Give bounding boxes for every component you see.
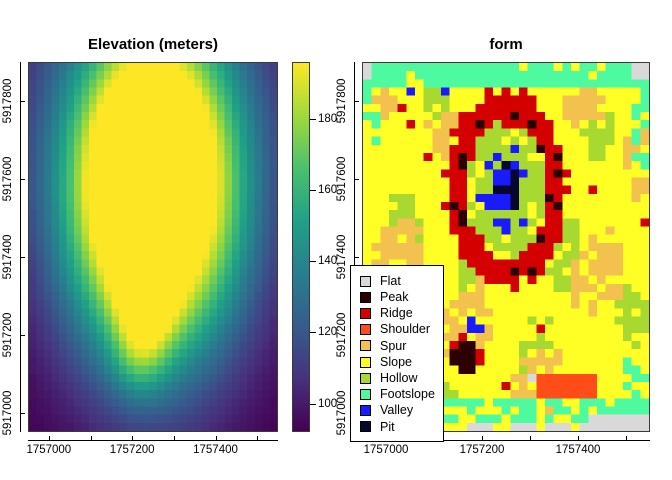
- y-axis-tick: [20, 101, 25, 102]
- x-axis-label: 1757400: [556, 444, 601, 456]
- colorbar-label: 140: [318, 255, 337, 267]
- y-axis-tick: [20, 257, 25, 258]
- legend-swatch-icon: [360, 405, 371, 416]
- legend-swatch-icon: [360, 357, 371, 368]
- colorbar-tick: [310, 261, 316, 262]
- legend-item-label: Footslope: [380, 388, 435, 401]
- x-axis-tick: [49, 436, 50, 441]
- y-axis-tick: [20, 179, 25, 180]
- x-axis-tick: [482, 436, 483, 441]
- y-axis-label: 5917200: [336, 312, 348, 357]
- x-axis-line: [28, 440, 278, 441]
- legend-item-pit[interactable]: Pit: [360, 419, 435, 435]
- colorbar-gradient: [293, 63, 309, 431]
- x-axis-tick: [578, 436, 579, 441]
- y-axis-label: 5917000: [336, 390, 348, 435]
- y-axis-tick: [354, 101, 359, 102]
- legend-item-label: Spur: [380, 340, 406, 353]
- x-axis-tick: [626, 436, 627, 441]
- legend-item-footslope[interactable]: Footslope: [360, 386, 435, 402]
- legend-swatch-icon: [360, 276, 371, 287]
- figure-canvas: Elevation (meters) 175700017572001757400…: [0, 0, 672, 480]
- y-axis-label: 5917600: [336, 156, 348, 201]
- legend-item-label: Hollow: [380, 372, 418, 385]
- form-title: form: [362, 36, 650, 53]
- legend-item-peak[interactable]: Peak: [360, 289, 435, 305]
- y-axis-tick: [354, 179, 359, 180]
- legend-item-label: Pit: [380, 421, 395, 434]
- legend-swatch-icon: [360, 389, 371, 400]
- y-axis-label: 5917200: [2, 312, 14, 357]
- elevation-raster: [29, 63, 277, 431]
- elevation-title: Elevation (meters): [28, 36, 278, 53]
- legend-swatch-icon: [360, 373, 371, 384]
- colorbar-tick: [310, 332, 316, 333]
- x-axis-label: 1757400: [193, 444, 238, 456]
- legend-item-shoulder[interactable]: Shoulder: [360, 322, 435, 338]
- y-axis-line: [20, 62, 21, 432]
- colorbar-label: 180: [318, 113, 337, 125]
- x-axis-tick: [174, 436, 175, 441]
- legend-swatch-icon: [360, 421, 371, 432]
- legend-item-label: Slope: [380, 356, 412, 369]
- legend-item-spur[interactable]: Spur: [360, 338, 435, 354]
- colorbar-label: 100: [318, 398, 337, 410]
- colorbar-label: 120: [318, 326, 337, 338]
- y-axis-label: 5917400: [336, 234, 348, 279]
- y-axis-label: 5917800: [336, 79, 348, 124]
- x-axis-tick: [257, 436, 258, 441]
- y-axis-label: 5917600: [2, 156, 14, 201]
- y-axis-tick: [20, 413, 25, 414]
- legend-item-ridge[interactable]: Ridge: [360, 305, 435, 321]
- legend-item-label: Ridge: [380, 307, 413, 320]
- y-axis-label: 5917000: [2, 390, 14, 435]
- elevation-plot-area: [28, 62, 278, 432]
- form-legend: FlatPeakRidgeShoulderSpurSlopeHollowFoot…: [350, 265, 444, 442]
- legend-swatch-icon: [360, 340, 371, 351]
- legend-item-flat[interactable]: Flat: [360, 273, 435, 289]
- elevation-colorbar: [292, 62, 310, 432]
- legend-swatch-icon: [360, 292, 371, 303]
- legend-item-label: Shoulder: [380, 323, 430, 336]
- colorbar-tick: [310, 404, 316, 405]
- x-axis-label: 1757000: [26, 444, 71, 456]
- legend-item-label: Valley: [380, 404, 413, 417]
- legend-item-hollow[interactable]: Hollow: [360, 370, 435, 386]
- x-axis-label: 1757200: [460, 444, 505, 456]
- legend-swatch-icon: [360, 308, 371, 319]
- legend-swatch-icon: [360, 324, 371, 335]
- legend-item-label: Flat: [380, 275, 401, 288]
- x-axis-tick: [91, 436, 92, 441]
- x-axis-label: 1757000: [364, 444, 409, 456]
- legend-item-label: Peak: [380, 291, 409, 304]
- y-axis-tick: [354, 257, 359, 258]
- legend-item-valley[interactable]: Valley: [360, 403, 435, 419]
- y-axis-label: 5917400: [2, 234, 14, 279]
- y-axis-label: 5917800: [2, 79, 14, 124]
- x-axis-tick: [216, 436, 217, 441]
- colorbar-tick: [310, 190, 316, 191]
- colorbar-label: 160: [318, 184, 337, 196]
- legend-item-slope[interactable]: Slope: [360, 354, 435, 370]
- x-axis-tick: [132, 436, 133, 441]
- y-axis-tick: [20, 335, 25, 336]
- x-axis-label: 1757200: [110, 444, 155, 456]
- colorbar-tick: [310, 119, 316, 120]
- x-axis-tick: [530, 436, 531, 441]
